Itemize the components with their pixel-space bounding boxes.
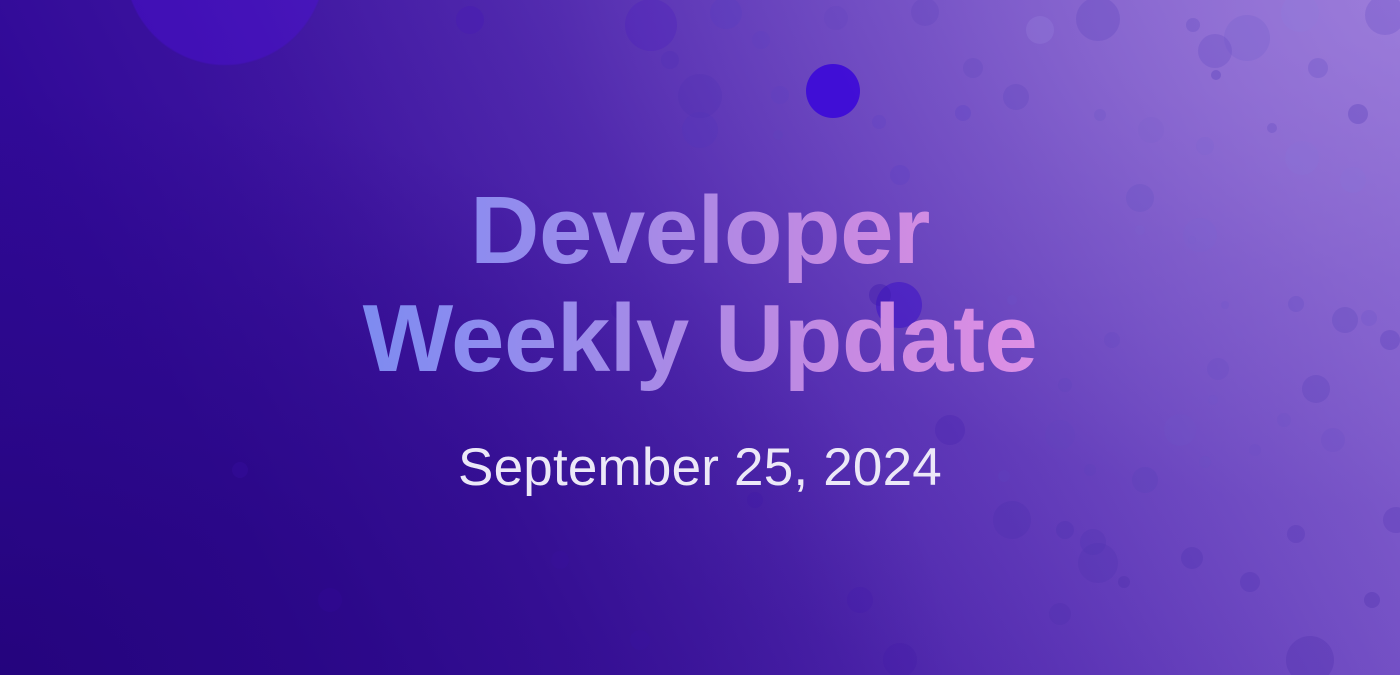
page-title: Developer Weekly Update [357, 177, 1044, 394]
issue-date: September 25, 2024 [458, 437, 942, 498]
title-line-2: Weekly Update [363, 285, 1038, 393]
developer-weekly-update-banner: Developer Weekly Update September 25, 20… [0, 0, 1400, 675]
banner-content: Developer Weekly Update September 25, 20… [0, 0, 1400, 675]
title-line-1: Developer [363, 177, 1038, 285]
